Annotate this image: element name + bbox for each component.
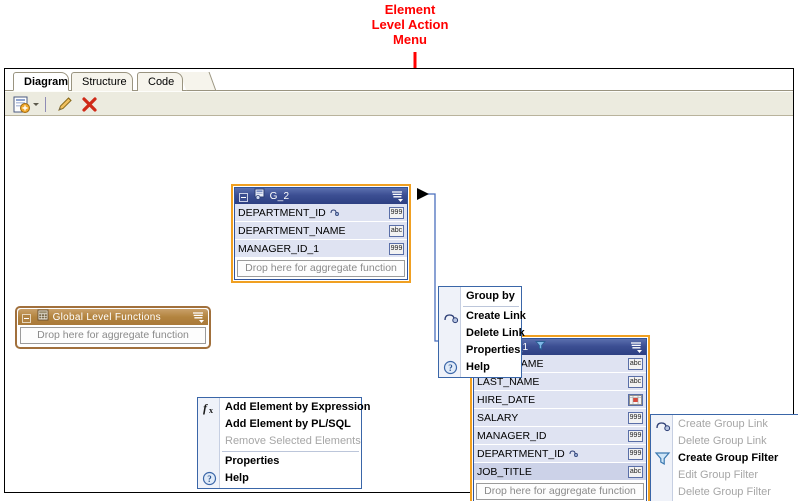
group-g2-label: G_2 (270, 191, 290, 202)
menu-item-properties[interactable]: Properties (439, 342, 521, 359)
field-name: DEPARTMENT_ID (238, 207, 326, 219)
menu-item-label: Add Element by PL/SQL (225, 418, 351, 430)
svg-text:x: x (209, 406, 213, 415)
field-name: SALARY (477, 412, 518, 424)
type-icon-text: abc (628, 358, 643, 370)
menu-item-label: Help (466, 361, 490, 373)
link-marker-icon (330, 204, 339, 222)
field-row[interactable]: SALARY 999 (474, 409, 646, 427)
type-icon-text: abc (389, 225, 404, 237)
svg-text:f: f (203, 401, 208, 415)
link-icon (654, 417, 671, 432)
type-icon-text: abc (628, 466, 643, 478)
svg-text:?: ? (207, 474, 212, 484)
field-row[interactable]: DEPARTMENT_ID 999 (474, 445, 646, 463)
type-icon-number: 999 (628, 448, 643, 460)
global-functions-icon (37, 309, 49, 325)
menu-item-group-by[interactable]: Group by (439, 288, 521, 305)
menu-item-label: Remove Selected Elements (225, 435, 361, 447)
global-panel-drop-zone[interactable]: Drop here for aggregate function (20, 327, 206, 344)
delete-x-icon[interactable] (80, 95, 99, 114)
tab-code[interactable]: Code (137, 72, 183, 91)
filter-icon (654, 451, 671, 466)
menu-item-label: Properties (225, 455, 279, 467)
field-name: DEPARTMENT_ID (477, 448, 565, 460)
menu-item-delete-link[interactable]: Delete Link (439, 325, 521, 342)
chevron-down-icon[interactable] (33, 103, 39, 106)
tab-strip-tail (180, 72, 217, 91)
menu-item-label: Delete Group Link (678, 435, 767, 447)
menu-item-help[interactable]: ? Help (198, 470, 361, 487)
data-group-icon (254, 188, 266, 204)
new-data-set-icon[interactable] (12, 95, 31, 114)
diagram-canvas[interactable]: i G_2 (5, 116, 793, 491)
menu-item-properties[interactable]: Properties (198, 453, 361, 470)
menu-item-label: Create Group Link (678, 418, 768, 430)
menu-item-label: Create Link (466, 310, 526, 322)
field-row[interactable]: HIRE_DATE (474, 391, 646, 409)
menu-item-edit-group-filter: Edit Group Filter (651, 467, 798, 484)
svg-text:?: ? (448, 363, 453, 373)
diagram-editor-panel: Diagram Structure Code (4, 68, 794, 493)
editor-tab-strip: Diagram Structure Code (5, 69, 793, 91)
menu-item-help[interactable]: ? Help (439, 359, 521, 376)
toolbar-separator (45, 97, 46, 112)
field-row[interactable]: MANAGER_ID_1 999 (235, 240, 407, 258)
global-level-functions-panel[interactable]: Global Level Functions Drop here for agg… (15, 306, 211, 349)
collapse-icon[interactable] (22, 314, 31, 323)
field-name: MANAGER_ID_1 (238, 243, 319, 255)
menu-item-delete-group-filter: Delete Group Filter (651, 484, 798, 501)
menu-item-label: Delete Link (466, 327, 525, 339)
field-name: JOB_TITLE (477, 466, 532, 478)
field-name: DEPARTMENT_NAME (238, 225, 346, 237)
menu-item-label: Group by (466, 290, 515, 302)
field-row[interactable]: MANAGER_ID 999 (474, 427, 646, 445)
menu-separator (463, 306, 519, 307)
help-icon: ? (442, 360, 459, 375)
global-level-action-menu[interactable]: f x Add Element by Expression Add Elemen… (197, 397, 362, 489)
menu-item-add-element-by-expression[interactable]: f x Add Element by Expression (198, 399, 361, 416)
group-level-action-menu[interactable]: Create Group Link Delete Group Link Crea… (650, 414, 798, 501)
tab-diagram[interactable]: Diagram (13, 72, 69, 91)
global-menu-list: f x Add Element by Expression Add Elemen… (198, 398, 361, 488)
field-row[interactable]: DEPARTMENT_NAME abc (235, 222, 407, 240)
group-g2-inner: G_2 DEPARTMENT_ID (234, 187, 408, 280)
editor-toolbar (5, 91, 793, 116)
menu-item-add-element-by-plsql[interactable]: Add Element by PL/SQL (198, 416, 361, 433)
type-icon-text: abc (628, 376, 643, 388)
tab-structure[interactable]: Structure (71, 72, 133, 91)
menu-item-remove-selected-elements: Remove Selected Elements (198, 433, 361, 450)
field-row[interactable]: JOB_TITLE abc (474, 463, 646, 481)
element-level-action-menu[interactable]: Group by Create Link Delete Lin (438, 286, 522, 378)
menu-item-create-group-link: Create Group Link (651, 416, 798, 433)
menu-item-create-link[interactable]: Create Link (439, 308, 521, 325)
type-icon-date (628, 394, 643, 406)
link-marker-icon (569, 445, 578, 463)
field-name: HIRE_DATE (477, 394, 535, 406)
screenshot-root: Element Level Action Menu Global Level A… (0, 0, 798, 501)
type-icon-number: 999 (389, 243, 404, 255)
group-menu-list: Create Group Link Delete Group Link Crea… (651, 415, 798, 501)
filter-icon (535, 340, 546, 356)
menu-item-label: Delete Group Filter (678, 486, 771, 498)
field-name: MANAGER_ID (477, 430, 546, 442)
menu-item-label: Properties (466, 344, 520, 356)
collapse-icon[interactable] (239, 193, 248, 202)
global-level-action-menu-icon[interactable] (192, 311, 205, 323)
menu-item-label: Help (225, 472, 249, 484)
menu-item-delete-group-link: Delete Group Link (651, 433, 798, 450)
field-row[interactable]: DEPARTMENT_ID 999 (235, 204, 407, 222)
help-icon: ? (201, 471, 218, 486)
edit-pencil-icon[interactable] (55, 95, 74, 114)
type-icon-number: 999 (389, 207, 404, 219)
group-g1-drop-zone[interactable]: Drop here for aggregate function (476, 483, 644, 500)
menu-item-label: Create Group Filter (678, 452, 778, 464)
group-g1-action-menu-icon[interactable] (630, 341, 643, 353)
element-menu-list: Group by Create Link Delete Lin (439, 287, 521, 377)
type-icon-number: 999 (628, 430, 643, 442)
group-g2-drop-zone[interactable]: Drop here for aggregate function (237, 260, 405, 277)
menu-item-create-group-filter[interactable]: Create Group Filter (651, 450, 798, 467)
global-panel-title-bar[interactable]: Global Level Functions (18, 309, 208, 325)
group-g2-field-list: DEPARTMENT_ID 999 DEPARTMENT_NAME abc MA… (235, 204, 407, 258)
link-icon (442, 309, 459, 324)
group-g2-action-menu-icon[interactable] (391, 190, 404, 202)
type-icon-number: 999 (628, 412, 643, 424)
group-box-g2[interactable]: G_2 DEPARTMENT_ID (231, 184, 411, 283)
menu-separator (222, 451, 359, 452)
fx-icon: f x (201, 400, 218, 415)
menu-item-label: Add Element by Expression (225, 401, 370, 413)
global-panel-label: Global Level Functions (53, 312, 161, 323)
group-g2-title-bar[interactable]: G_2 (235, 188, 407, 204)
menu-item-label: Edit Group Filter (678, 469, 758, 481)
annotation-element-level-action-menu: Element Level Action Menu (330, 2, 490, 47)
